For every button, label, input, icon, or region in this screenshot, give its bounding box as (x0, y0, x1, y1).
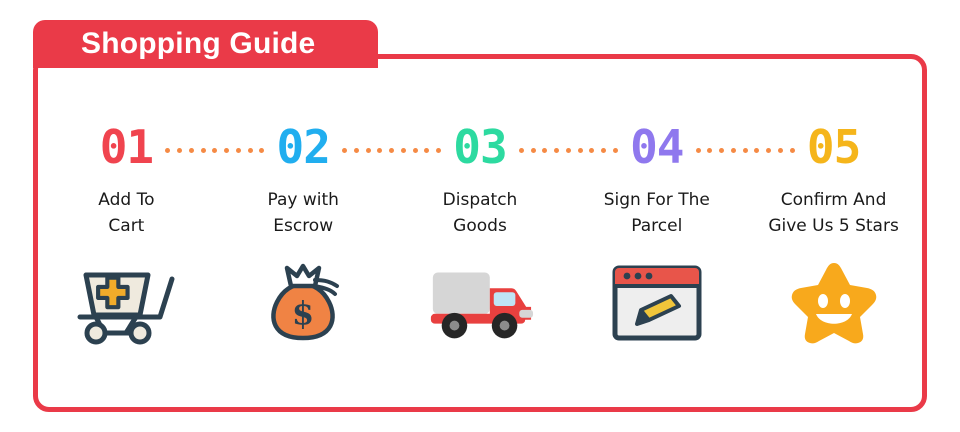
sign-document-icon (602, 257, 712, 349)
step-item-4: 04 Sign For The Parcel (568, 59, 745, 407)
step-label-4: Sign For The Parcel (604, 188, 710, 239)
step-label-3: Dispatch Goods (443, 188, 518, 239)
steps-container: 01 Add To Cart 02 (38, 59, 922, 407)
step-number-2: 02 (277, 124, 330, 170)
step-number-1: 01 (100, 124, 153, 170)
step-number-4: 04 (630, 124, 683, 170)
step-label-5: Confirm And Give Us 5 Stars (768, 188, 898, 239)
step-label-1: Add To Cart (98, 188, 154, 239)
step-number-5: 05 (807, 124, 860, 170)
step-number-row-3: 03 (453, 122, 506, 172)
step-item-3: 03 Dispatch Goods (392, 59, 569, 407)
shopping-guide-banner: Shopping Guide 01 Add To Cart (0, 0, 960, 432)
step-number-row-5: 05 (807, 122, 860, 172)
step-item-1: 01 Add To Cart (38, 59, 215, 407)
step-label-2: Pay with Escrow (267, 188, 338, 239)
shopping-cart-icon (71, 257, 181, 349)
svg-text:$: $ (292, 294, 314, 332)
page-title: Shopping Guide (81, 29, 315, 59)
money-bag-icon: $ (248, 257, 358, 349)
step-number-row-4: 04 (630, 122, 683, 172)
smiling-star-icon (779, 257, 889, 349)
delivery-truck-icon (425, 257, 535, 349)
step-number-3: 03 (453, 124, 506, 170)
step-item-2: 02 Pay with Escrow $ (215, 59, 392, 407)
step-number-row-2: 02 (277, 122, 330, 172)
step-number-row-1: 01 (100, 122, 153, 172)
step-item-5: 05 Confirm And Give Us 5 Stars (745, 59, 922, 407)
